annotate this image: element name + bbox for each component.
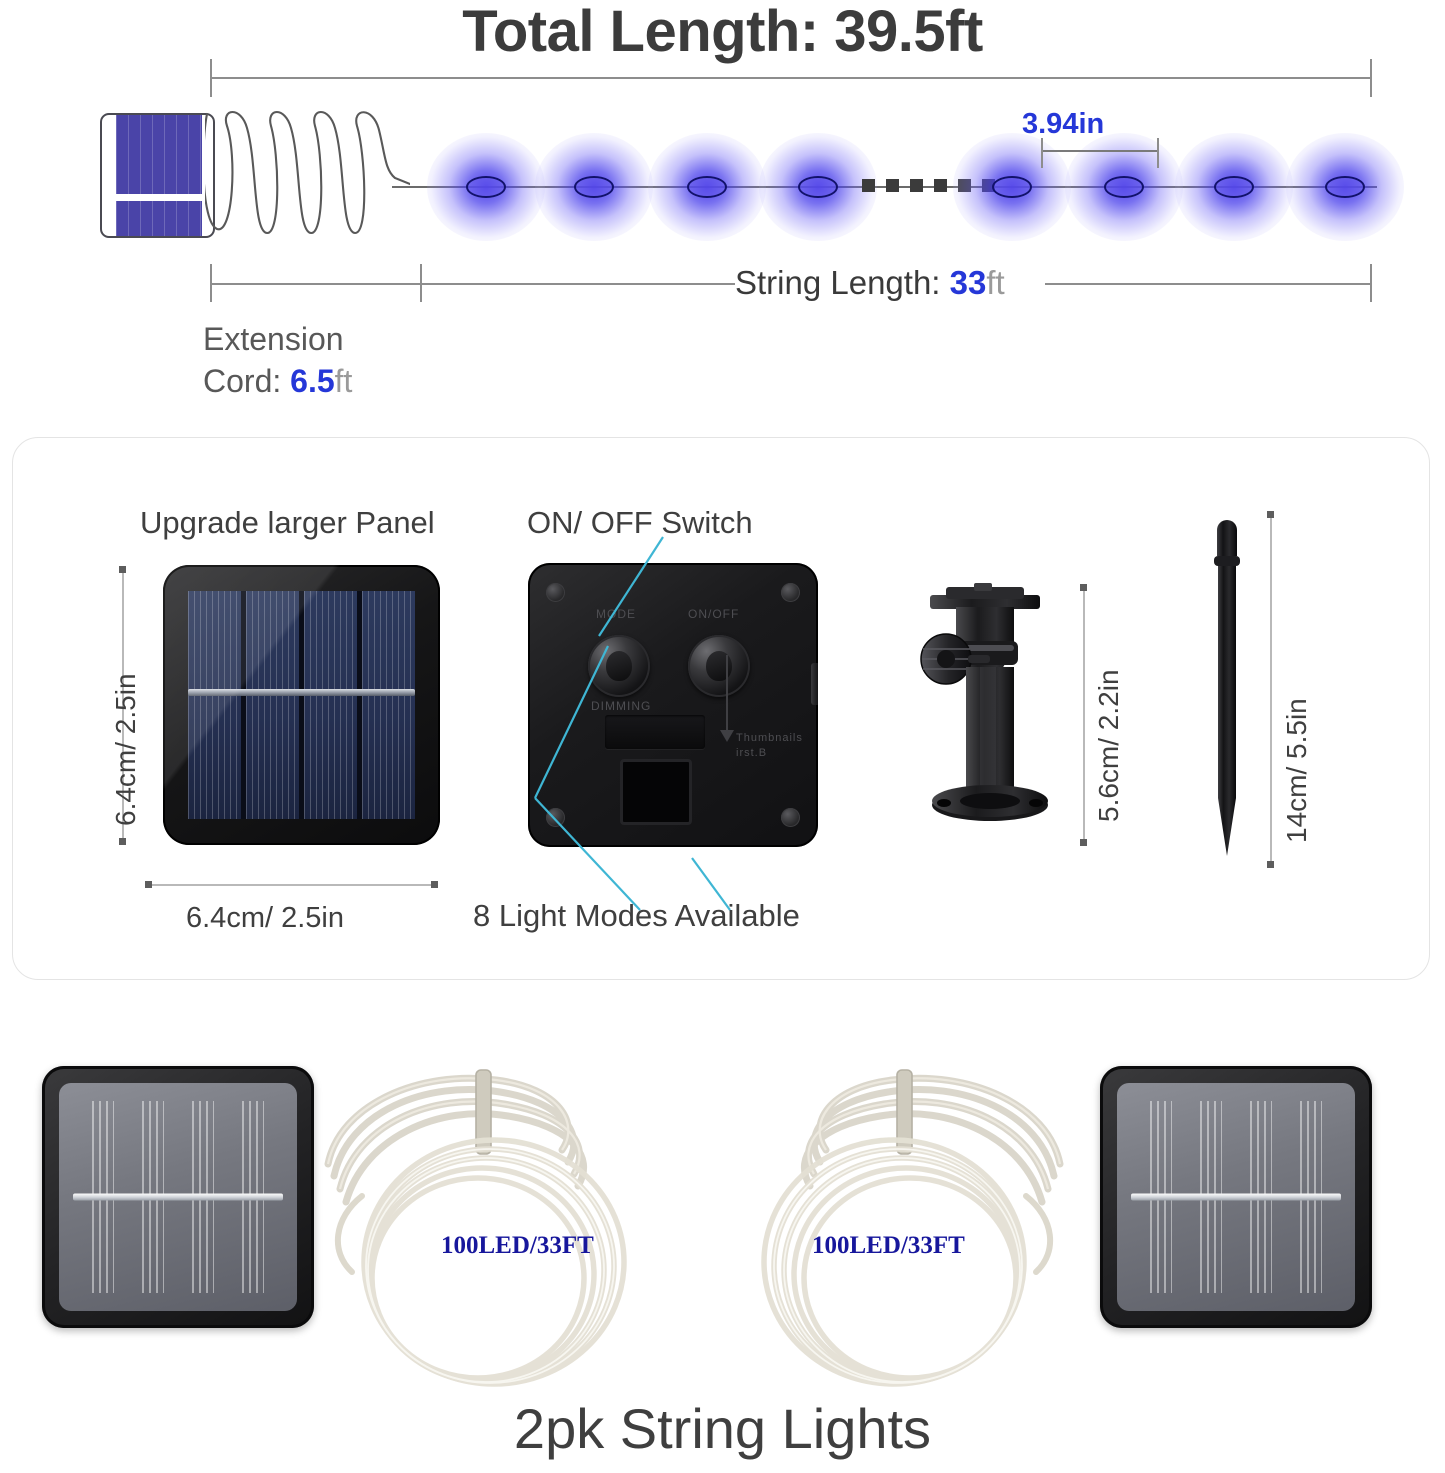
callout-lines (460, 528, 880, 928)
extension-cord-coil-icon (205, 104, 410, 244)
led-count-label-right: 100LED/33FT (812, 1232, 965, 1260)
lower-dimension-rule-left (210, 283, 735, 285)
string-length-prefix: String Length: (735, 264, 950, 301)
led-bulb (992, 176, 1032, 198)
stake-dimension-cap-top (1267, 511, 1274, 518)
bracket-dimension-text: 5.6cm/ 2.2in (1093, 669, 1125, 822)
string-length-label: String Length: 33ft (735, 264, 1005, 302)
panel-width-cap-left (145, 881, 152, 888)
led-bulb (1104, 176, 1144, 198)
led-bulb (798, 176, 838, 198)
extension-cord-label: Extension Cord: 6.5ft (203, 318, 352, 402)
stake-dimension-cap-bottom (1267, 861, 1274, 868)
pack-title: 2pk String Lights (0, 1396, 1445, 1461)
led-spacing-rule (1041, 150, 1159, 152)
string-length-unit: ft (986, 264, 1004, 301)
led-bulb (1214, 176, 1254, 198)
led-bulb (574, 176, 614, 198)
wire-bundle-left (300, 1046, 660, 1396)
led-spacing-label: 3.94in (1022, 108, 1104, 141)
solar-panel-icon (100, 113, 215, 238)
string-length-number: 33 (950, 264, 987, 301)
extension-cord-number: 6.5 (290, 363, 334, 399)
ground-stake-image (1207, 512, 1247, 864)
panel-width-dimension-text: 6.4cm/ 2.5in (186, 902, 344, 935)
extension-cord-line2: Cord: 6.5ft (203, 360, 352, 402)
infographic-stage: Total Length: 39.5ft 3.94in String Lengt… (0, 0, 1445, 1473)
led-bulb (1325, 176, 1365, 198)
lower-dimension-rule-right (1045, 283, 1372, 285)
extension-cord-prefix: Cord: (203, 363, 290, 399)
product-solar-panel-right (1100, 1066, 1372, 1328)
stake-dimension-text: 14cm/ 5.5in (1281, 698, 1313, 843)
bracket-dimension-line (1083, 588, 1085, 843)
led-bulb (466, 176, 506, 198)
wall-mount-bracket-image (918, 583, 1068, 845)
led-count-label-left: 100LED/33FT (441, 1232, 594, 1260)
total-length-tick-right (1370, 59, 1372, 97)
total-length-dimension-rule (210, 77, 1372, 79)
wire-bundle-right (728, 1046, 1088, 1396)
led-bulb (687, 176, 727, 198)
extension-cord-unit: ft (335, 363, 353, 399)
product-solar-panel-left (42, 1066, 314, 1328)
bracket-dimension-cap-bottom (1080, 839, 1087, 846)
panel-width-cap-right (431, 881, 438, 888)
upgrade-panel-caption: Upgrade larger Panel (140, 505, 435, 541)
panel-height-cap-top (119, 566, 126, 573)
total-length-title: Total Length: 39.5ft (0, 0, 1445, 65)
panel-height-cap-bottom (119, 838, 126, 845)
stake-dimension-line (1270, 515, 1272, 865)
led-spacing-tick-left (1041, 138, 1043, 168)
bracket-dimension-cap-top (1080, 584, 1087, 591)
total-length-tick-left (210, 59, 212, 97)
extension-cord-line1: Extension (203, 318, 352, 360)
panel-height-dimension-text: 6.4cm/ 2.5in (110, 673, 142, 826)
panel-width-dimension-line (148, 884, 438, 886)
solar-panel-product-image (163, 565, 440, 845)
led-spacing-tick-right (1157, 138, 1159, 168)
